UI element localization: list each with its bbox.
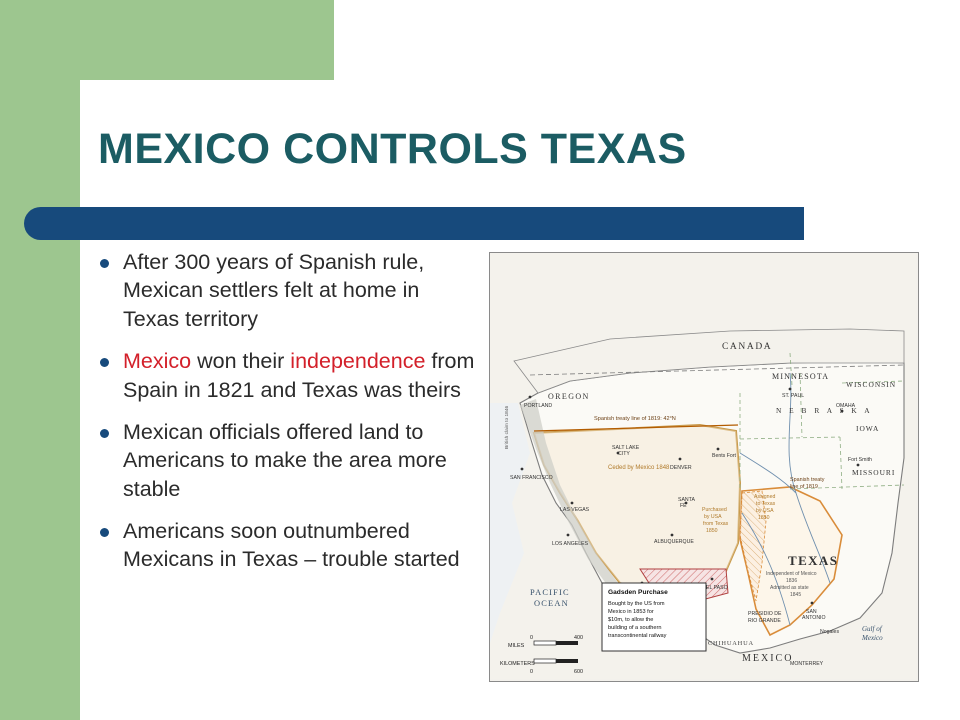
- svg-text:400: 400: [574, 635, 583, 641]
- svg-text:RIO GRANDE: RIO GRANDE: [748, 618, 781, 624]
- svg-text:Independent of Mexico: Independent of Mexico: [766, 571, 817, 577]
- bullet-dot-icon: [100, 528, 109, 537]
- svg-text:transcontinental railway: transcontinental railway: [608, 633, 667, 639]
- page-title: MEXICO CONTROLS TEXAS: [98, 126, 918, 173]
- svg-text:from Texas: from Texas: [703, 521, 729, 527]
- svg-text:600: 600: [574, 669, 583, 675]
- svg-text:Bents Fort: Bents Fort: [712, 453, 736, 459]
- bullet-span: won their: [191, 349, 290, 373]
- svg-text:MONTERREY: MONTERREY: [790, 661, 824, 667]
- svg-text:PACIFIC: PACIFIC: [530, 588, 570, 597]
- svg-text:PRESIDIO DE: PRESIDIO DE: [748, 611, 782, 617]
- list-item: After 300 years of Spanish rule, Mexican…: [100, 248, 480, 333]
- svg-text:by USA: by USA: [704, 514, 722, 520]
- list-item: Mexican officials offered land to Americ…: [100, 418, 480, 503]
- bullet-span-highlight: Mexico: [123, 349, 191, 373]
- svg-text:EL PASO: EL PASO: [706, 585, 728, 591]
- svg-text:ANTONIO: ANTONIO: [802, 615, 826, 621]
- svg-text:OMAHA: OMAHA: [836, 403, 856, 409]
- svg-text:Gadsden Purchase: Gadsden Purchase: [608, 589, 668, 596]
- svg-text:OREGON: OREGON: [548, 392, 590, 401]
- svg-text:0: 0: [530, 669, 533, 675]
- svg-text:SAN FRANCISCO: SAN FRANCISCO: [510, 475, 553, 481]
- svg-text:building of a southern: building of a southern: [608, 625, 662, 631]
- svg-text:LAS VEGAS: LAS VEGAS: [560, 507, 590, 513]
- svg-text:OCEAN: OCEAN: [534, 599, 569, 608]
- svg-text:by USA: by USA: [756, 508, 774, 514]
- svg-text:1836: 1836: [786, 578, 797, 584]
- list-item: Mexico won their independence from Spain…: [100, 347, 480, 404]
- bullet-list: After 300 years of Spanish rule, Mexican…: [100, 248, 480, 588]
- svg-text:CHIHUAHUA: CHIHUAHUA: [708, 640, 754, 647]
- svg-text:MISSOURI: MISSOURI: [852, 468, 895, 477]
- list-item: Americans soon outnumbered Mexicans in T…: [100, 517, 480, 574]
- svg-text:FE: FE: [680, 503, 687, 509]
- svg-text:Assigned: Assigned: [754, 494, 775, 500]
- svg-text:British claim to 1846: British claim to 1846: [504, 405, 510, 449]
- svg-text:ST. PAUL: ST. PAUL: [782, 393, 804, 399]
- bullet-dot-icon: [100, 259, 109, 268]
- map-canvas: CANADA: [490, 253, 918, 681]
- svg-text:Bought by the US from: Bought by the US from: [608, 601, 665, 607]
- svg-text:DENVER: DENVER: [670, 465, 692, 471]
- svg-text:line of 1819: line of 1819: [790, 484, 818, 490]
- svg-text:Purchased: Purchased: [702, 507, 727, 513]
- svg-text:Fort Smith: Fort Smith: [848, 457, 872, 463]
- svg-text:MEXICO: MEXICO: [742, 653, 793, 664]
- bullet-span-highlight: independence: [290, 349, 425, 373]
- slide: MEXICO CONTROLS TEXAS After 300 years of…: [0, 0, 960, 720]
- title-underline-bar: [24, 207, 804, 240]
- svg-text:Admitted as state: Admitted as state: [770, 585, 809, 591]
- svg-text:TEXAS: TEXAS: [788, 553, 838, 568]
- svg-text:Spanish treaty: Spanish treaty: [790, 477, 825, 483]
- svg-text:Ceded by Mexico 1848: Ceded by Mexico 1848: [608, 465, 670, 471]
- svg-text:Mexico in 1853 for: Mexico in 1853 for: [608, 609, 654, 615]
- svg-text:MILES: MILES: [508, 643, 525, 649]
- svg-text:N E B R A S K A: N E B R A S K A: [776, 406, 873, 415]
- bullet-text: After 300 years of Spanish rule, Mexican…: [123, 248, 480, 333]
- bullet-dot-icon: [100, 429, 109, 438]
- svg-text:MINNESOTA: MINNESOTA: [772, 372, 829, 381]
- svg-text:ALBUQUERQUE: ALBUQUERQUE: [654, 539, 694, 545]
- bullet-span: After 300 years of Spanish rule, Mexican…: [123, 250, 424, 331]
- map-image: CANADA: [489, 252, 919, 682]
- svg-text:CITY: CITY: [618, 451, 630, 457]
- bullet-dot-icon: [100, 358, 109, 367]
- svg-text:Gulf of: Gulf of: [862, 625, 883, 633]
- svg-text:0: 0: [530, 635, 533, 641]
- svg-text:1845: 1845: [790, 592, 801, 598]
- svg-text:KILOMETERS: KILOMETERS: [500, 661, 535, 667]
- svg-text:LOS ANGELES: LOS ANGELES: [552, 541, 589, 547]
- svg-text:Mexico: Mexico: [861, 634, 883, 642]
- bullet-text: Americans soon outnumbered Mexicans in T…: [123, 517, 480, 574]
- svg-text:Spanish treaty line of 1819: 4: Spanish treaty line of 1819: 42°N: [594, 416, 676, 422]
- svg-text:CANADA: CANADA: [722, 342, 772, 352]
- bullet-text: Mexican officials offered land to Americ…: [123, 418, 480, 503]
- svg-text:WISCONSIN: WISCONSIN: [846, 380, 896, 389]
- decorative-green-top-band: [0, 0, 334, 80]
- svg-text:1850: 1850: [706, 528, 718, 534]
- svg-text:1850: 1850: [758, 515, 770, 521]
- svg-text:PORTLAND: PORTLAND: [524, 403, 552, 409]
- svg-text:to Texas: to Texas: [756, 501, 776, 507]
- bullet-span: Mexican officials offered land to Americ…: [123, 420, 447, 501]
- svg-text:Nogales: Nogales: [820, 629, 839, 635]
- svg-text:IOWA: IOWA: [856, 424, 879, 433]
- bullet-span: Americans soon outnumbered Mexicans in T…: [123, 519, 460, 571]
- svg-text:$10m, to allow the: $10m, to allow the: [608, 617, 653, 623]
- bullet-text: Mexico won their independence from Spain…: [123, 347, 480, 404]
